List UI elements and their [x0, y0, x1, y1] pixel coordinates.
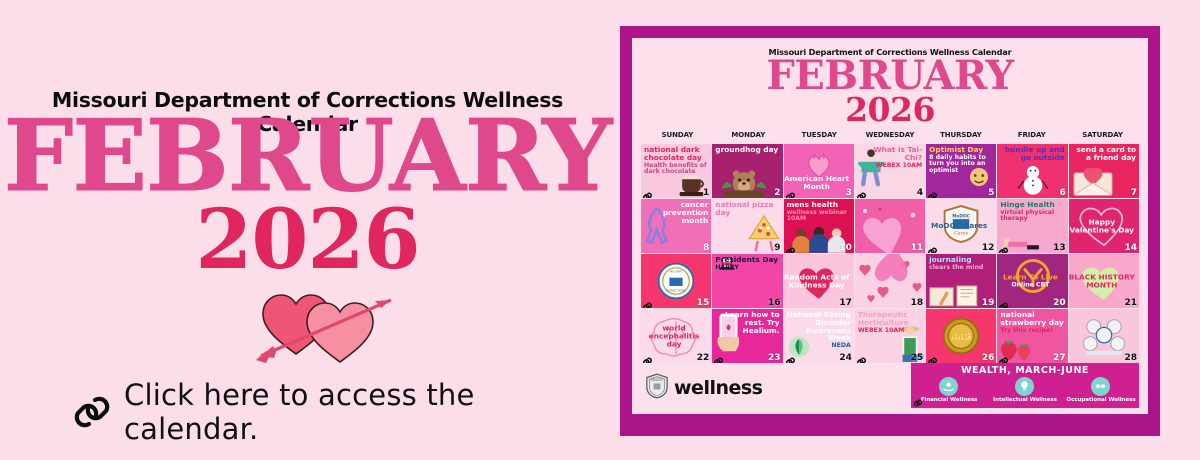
calendar-day-21-number: 21 [1124, 298, 1137, 308]
calendar-day-21-caption: BLACK HISTORY MONTH [1069, 274, 1135, 289]
calendar-day-8[interactable]: cancer prevention month8 [641, 199, 711, 253]
weekday-sunday: SUNDAY [642, 131, 713, 139]
calendar-day-17-caption: Random Acts of Kindness Day [784, 274, 850, 289]
calendar-day-27-number: 27 [1053, 353, 1066, 363]
calendar-day-7-number: 7 [1131, 188, 1137, 198]
calendar-day-9-number: 9 [774, 243, 780, 253]
calendar-day-9[interactable]: national pizza day9 [712, 199, 782, 253]
chain-link-icon[interactable] [642, 298, 653, 307]
calendar-year-title: 2026 [640, 95, 1140, 125]
calendar-day-6-caption: bundle up and go outside [999, 146, 1065, 161]
calendar-day-7[interactable]: send a card to a friend day7 [1069, 144, 1139, 198]
calendar-day-18-number: 18 [911, 298, 924, 308]
calendar-day-23-number: 23 [768, 353, 781, 363]
calendar-day-4-subcaption: WEBEX 10AM [856, 163, 922, 169]
calendar-day-22-caption: world encephalitis day [641, 325, 707, 348]
calendar-day-17[interactable]: Random Acts of Kindness Day17 [784, 254, 854, 308]
calendar-day-13-number: 13 [1053, 243, 1066, 253]
calendar-day-5[interactable]: Optimist Day8 daily habits to turn you i… [926, 144, 996, 198]
calendar-day-21[interactable]: BLACK HISTORY MONTH21 [1069, 254, 1139, 308]
page-title-month: FEBRUARY [0, 112, 615, 202]
calendar-day-24[interactable]: National Eating Disorder Awareness WeekN… [784, 309, 854, 363]
calendar-day-2[interactable]: groundhog day2 [712, 144, 782, 198]
wealth-item-financial[interactable]: Financial Wellness [911, 377, 986, 403]
calendar-day-6-number: 6 [1059, 188, 1065, 198]
calendar-day-15-number: 15 [697, 298, 710, 308]
calendar-footer: MODOC wellness WEALTH, MARCH-JUNE [640, 365, 1140, 411]
calendar-day-12[interactable]: MoDOCCaresMoDOC Cares12 [926, 199, 996, 253]
calendar-day-19-subcaption: clears the mind [929, 265, 983, 271]
calendar-day-10-subcaption: wellness webinar 10AM [787, 210, 853, 223]
chain-link-icon[interactable] [927, 243, 938, 252]
calendar-access-link[interactable]: Click here to access the calendar. [72, 378, 615, 446]
calendar-day-9-caption: national pizza day [715, 201, 781, 216]
weekday-thursday: THURSDAY [925, 131, 996, 139]
calendar-day-13-caption: Hinge Healthvirtual physical therapy [1000, 201, 1066, 222]
chain-link-icon[interactable] [856, 353, 867, 362]
calendar-day-1-subcaption: Health benefits of dark chocolate [644, 163, 710, 176]
chain-link-icon[interactable] [713, 353, 724, 362]
handshake-icon [1091, 377, 1110, 396]
calendar-day-27-caption: national strawberry dayTry this recipe! [1000, 311, 1066, 333]
calendar-day-1-caption: national dark chocolate dayHealth benefi… [644, 146, 710, 175]
calendar-day-28[interactable]: 28 [1069, 309, 1139, 363]
calendar-day-5-caption: Optimist Day8 daily habits to turn you i… [929, 146, 995, 173]
calendar-thumbnail[interactable]: Missouri Department of Corrections Welln… [620, 26, 1160, 436]
wealth-item-intellectual-label: Intellectual Wellness [987, 397, 1062, 403]
chain-link-icon[interactable] [785, 188, 796, 197]
weekday-header-row: SUNDAY MONDAY TUESDAY WEDNESDAY THURSDAY… [640, 131, 1140, 139]
calendar-day-16-caption: Presidents DayHAPPY [715, 256, 778, 271]
weekday-monday: MONDAY [713, 131, 784, 139]
calendar-day-25[interactable]: Therapeutic HorticultureWEBEX 10AM25 [855, 309, 925, 363]
calendar-day-5-number: 5 [988, 188, 994, 198]
modoc-shield-icon: MODOC [646, 373, 668, 404]
svg-text:MoDOC: MoDOC [953, 214, 970, 220]
calendar-day-4-number: 4 [917, 188, 923, 198]
chain-link-icon[interactable] [785, 243, 796, 252]
weekday-saturday: SATURDAY [1067, 131, 1138, 139]
calendar-day-25-subcaption: WEBEX 10AM [858, 328, 924, 334]
calendar-day-23-caption: Learn how to rest. Try Healium. [714, 311, 780, 334]
calendar-day-6[interactable]: bundle up and go outside6 [997, 144, 1067, 198]
wellness-label: wellness [674, 377, 763, 399]
calendar-day-19-caption: journalingclears the mind [929, 256, 983, 271]
calendar-day-12-number: 12 [982, 243, 995, 253]
calendar-sheet: Missouri Department of Corrections Welln… [632, 38, 1148, 414]
page-title-year: 2026 [0, 203, 615, 278]
calendar-day-28-number: 28 [1124, 353, 1137, 363]
calendar-access-link-label: Click here to access the calendar. [124, 378, 615, 446]
hand-coin-icon [939, 377, 958, 396]
calendar-day-20-subcaption: Online CBT [997, 283, 1063, 289]
calendar-day-11[interactable]: 11 [855, 199, 925, 253]
calendar-day-1[interactable]: national dark chocolate dayHealth benefi… [641, 144, 711, 198]
calendar-day-22[interactable]: world encephalitis day22 [641, 309, 711, 363]
calendar-day-24-caption: National Eating Disorder Awareness WeekN… [785, 311, 851, 349]
calendar-day-27[interactable]: national strawberry dayTry this recipe!2… [997, 309, 1067, 363]
calendar-day-18[interactable]: 18 [855, 254, 925, 308]
left-panel: Missouri Department of Corrections Welln… [0, 0, 615, 460]
calendar-day-20-number: 20 [1053, 298, 1066, 308]
calendar-day-17-number: 17 [839, 298, 852, 308]
calendar-day-25-number: 25 [911, 353, 924, 363]
calendar-day-13-subcaption: virtual physical therapy [1000, 210, 1066, 223]
wealth-promo-box[interactable]: WEALTH, MARCH-JUNE Financial Wellness [911, 363, 1139, 408]
calendar-day-11-number: 11 [911, 243, 924, 253]
calendar-day-1-number: 1 [703, 188, 709, 198]
calendar-day-3-number: 3 [846, 188, 852, 198]
calendar-day-27-subcaption: Try this recipe! [1000, 328, 1066, 334]
calendar-day-10[interactable]: mens healthwellness webinar 10AM10 [784, 199, 854, 253]
chain-link-icon[interactable] [998, 298, 1009, 307]
weekday-tuesday: TUESDAY [784, 131, 855, 139]
chain-link-icon[interactable] [642, 353, 653, 362]
calendar-day-23[interactable]: Learn how to rest. Try Healium.23 [712, 309, 782, 363]
calendar-day-26[interactable]: NRGNRG26 [926, 309, 996, 363]
calendar-day-grid: national dark chocolate dayHealth benefi… [640, 144, 1140, 363]
calendar-day-20[interactable]: Learn To LiveOnline CBT20 [997, 254, 1067, 308]
wealth-item-occupational-label: Occupational Wellness [1063, 397, 1138, 403]
calendar-day-7-caption: send a card to a friend day [1070, 146, 1136, 161]
calendar-day-26-caption: NRG [926, 333, 992, 341]
chain-link-icon [913, 394, 923, 402]
calendar-day-24-subcaption: NEDA [785, 343, 851, 349]
wealth-promo-title: WEALTH, MARCH-JUNE [911, 365, 1139, 376]
calendar-day-4[interactable]: What is Tai-Chi?WEBEX 10AM4 [855, 144, 925, 198]
chain-link-icon[interactable] [856, 188, 867, 197]
svg-text:CORRECTIONS: CORRECTIONS [666, 289, 687, 293]
calendar-day-16-number: 16 [768, 298, 781, 308]
calendar-day-20-caption: Learn To LiveOnline CBT [997, 274, 1063, 289]
chain-link-icon[interactable] [927, 353, 938, 362]
calendar-day-2-caption: groundhog day [715, 146, 778, 154]
two-hearts-with-arrow-icon [255, 278, 405, 370]
wealth-item-intellectual[interactable]: Intellectual Wellness [987, 377, 1062, 403]
calendar-day-3[interactable]: American Heart Month3 [784, 144, 854, 198]
calendar-day-15[interactable]: MO DEPTCORRECTIONS15 [641, 254, 711, 308]
svg-text:MODOC: MODOC [651, 377, 663, 381]
calendar-day-13[interactable]: Hinge Healthvirtual physical therapy13 [997, 199, 1067, 253]
calendar-day-4-caption: What is Tai-Chi?WEBEX 10AM [856, 146, 922, 168]
chain-link-icon[interactable] [642, 188, 653, 197]
calendar-day-12-caption: MoDOC Cares [926, 223, 992, 231]
calendar-day-10-number: 10 [839, 243, 852, 253]
calendar-day-25-caption: Therapeutic HorticultureWEBEX 10AM [858, 311, 924, 333]
calendar-day-19[interactable]: journalingclears the mind19 [926, 254, 996, 308]
calendar-day-10-caption: mens healthwellness webinar 10AM [787, 201, 853, 222]
chain-link-icon[interactable] [998, 353, 1009, 362]
calendar-day-14-caption: Happy Valentine's Day [1069, 219, 1135, 234]
calendar-day-24-number: 24 [839, 353, 852, 363]
chain-link-icon [72, 392, 112, 432]
calendar-day-19-number: 19 [982, 298, 995, 308]
calendar-day-5-subcaption: 8 daily habits to turn you into an optim… [929, 155, 995, 174]
chain-link-icon[interactable] [785, 353, 796, 362]
wellness-brand: MODOC wellness [646, 373, 763, 404]
calendar-day-16-subcaption: HAPPY [715, 265, 778, 271]
calendar-day-14-number: 14 [1124, 243, 1137, 253]
calendar-day-8-number: 8 [703, 243, 709, 253]
wealth-items: Financial Wellness [911, 377, 1139, 403]
calendar-day-22-number: 22 [697, 353, 710, 363]
svg-text:Cares: Cares [954, 231, 969, 237]
calendar-day-26-number: 26 [982, 353, 995, 363]
weekday-wednesday: WEDNESDAY [855, 131, 926, 139]
calendar-day-16[interactable]: Presidents DayHAPPY16 [712, 254, 782, 308]
svg-text:MO DEPT: MO DEPT [670, 270, 683, 274]
lightbulb-brain-icon [1015, 377, 1034, 396]
promo-banner: Missouri Department of Corrections Welln… [0, 0, 1200, 460]
weekday-friday: FRIDAY [996, 131, 1067, 139]
calendar-day-14[interactable]: Happy Valentine's Day14 [1069, 199, 1139, 253]
chain-link-icon[interactable] [927, 188, 938, 197]
wealth-item-occupational[interactable]: Occupational Wellness [1063, 377, 1138, 403]
calendar-day-2-number: 2 [774, 188, 780, 198]
calendar-day-8-caption: cancer prevention month [642, 201, 708, 224]
chain-link-icon[interactable] [998, 243, 1009, 252]
